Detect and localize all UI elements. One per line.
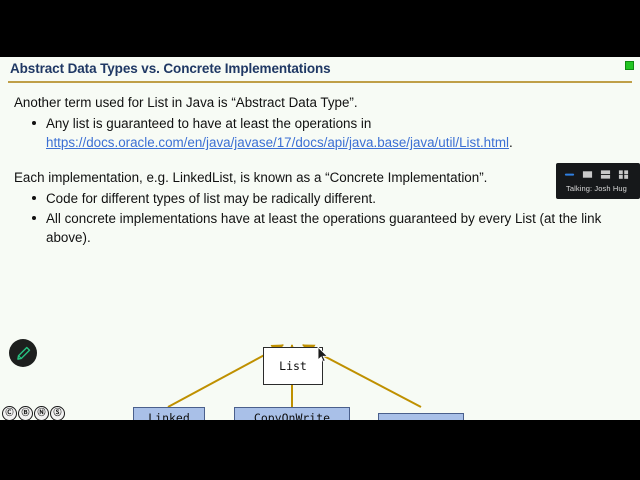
bullet-list-2: Code for different types of list may be …: [14, 189, 614, 247]
active-speaker-label: Talking: Josh Hug: [556, 184, 640, 199]
list-item: Any list is guaranteed to have at least …: [14, 114, 614, 152]
page-title: Abstract Data Types vs. Concrete Impleme…: [10, 61, 331, 76]
cc-chip-cc: Ⓒ: [2, 406, 17, 420]
list-item: All concrete implementations have at lea…: [14, 209, 614, 247]
cc-chip-nc: Ⓝ: [34, 406, 49, 420]
minimize-icon[interactable]: [564, 169, 575, 180]
intro-paragraph: Another term used for List in Java is “A…: [14, 93, 614, 112]
diagram-node-copyonwritearraylist[interactable]: CopyOnWrite ArrayList: [234, 407, 350, 420]
recording-dot: [625, 61, 634, 70]
bullet-text: Any list is guaranteed to have at least …: [46, 116, 371, 131]
cc-chip-sa: Ⓢ: [50, 406, 65, 420]
view-mode-toolbar: [556, 163, 640, 184]
list-item: Code for different types of list may be …: [14, 189, 614, 208]
list-javadoc-link[interactable]: https://docs.oracle.com/en/java/javase/1…: [46, 135, 509, 150]
diagram-node-list[interactable]: List: [263, 347, 323, 385]
bullet-list-1: Any list is guaranteed to have at least …: [14, 114, 614, 152]
split-view-icon[interactable]: [600, 169, 611, 180]
edit-pencil-button[interactable]: [9, 339, 37, 367]
gallery-view-icon[interactable]: [618, 169, 629, 180]
video-overlay-panel: Talking: Josh Hug: [556, 163, 640, 199]
presentation-slide: Abstract Data Types vs. Concrete Impleme…: [0, 57, 640, 420]
diagram-node-arraylist[interactable]: ArrayList: [378, 413, 464, 420]
diagram-node-linkedlist[interactable]: Linked List: [133, 407, 205, 420]
cc-chip-by: Ⓑ: [18, 406, 33, 420]
creative-commons-badge: Ⓒ Ⓑ Ⓝ Ⓢ: [2, 406, 65, 420]
video-player: Abstract Data Types vs. Concrete Impleme…: [0, 0, 640, 480]
mouse-cursor: [317, 346, 329, 363]
title-divider: [8, 81, 632, 83]
slide-body: Another term used for List in Java is “A…: [14, 93, 614, 248]
edit-pencil-icon: [16, 346, 31, 361]
bullet-text-tail: .: [509, 135, 513, 150]
second-paragraph: Each implementation, e.g. LinkedList, is…: [14, 168, 614, 187]
speaker-view-icon[interactable]: [582, 169, 593, 180]
